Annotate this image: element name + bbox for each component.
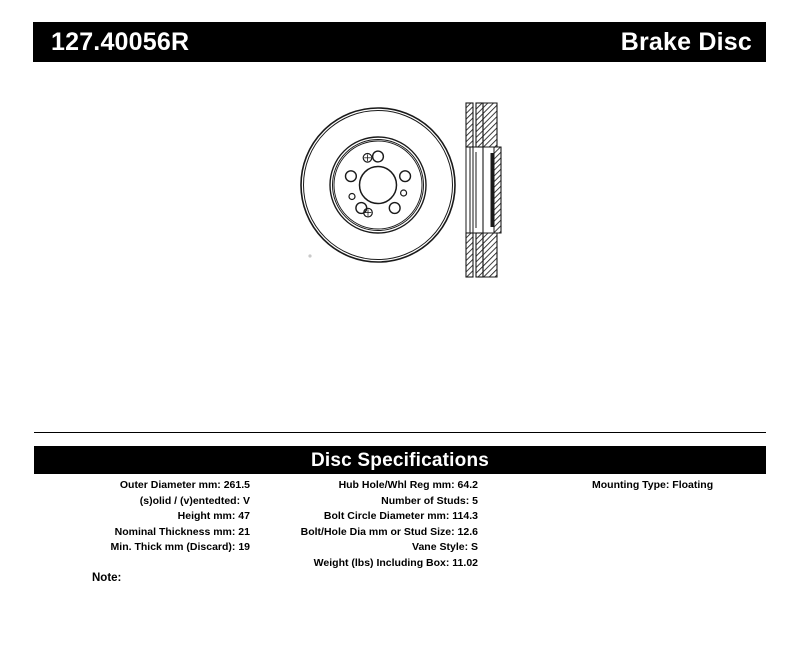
brake-rotor-cross-section-icon — [455, 90, 511, 290]
product-illustration — [0, 70, 800, 400]
spec-row: (s)olid / (v)entedted: V — [34, 494, 250, 510]
product-header-bar: 127.40056R Brake Disc — [33, 22, 766, 62]
spec-row: Nominal Thickness mm: 21 — [34, 525, 250, 541]
note-section: Note: — [34, 568, 766, 586]
spec-row: Min. Thick mm (Discard): 19 — [34, 540, 250, 556]
spec-row: Height mm: 47 — [34, 509, 250, 525]
spec-row: Outer Diameter mm: 261.5 — [34, 478, 250, 494]
spec-column-left: Outer Diameter mm: 261.5 (s)olid / (v)en… — [34, 478, 256, 556]
brake-rotor-front-view-icon — [286, 90, 476, 280]
spec-column-right: Mounting Type: Floating — [484, 478, 766, 494]
section-divider — [34, 432, 766, 433]
disc-specifications-bar: Disc Specifications — [34, 446, 766, 474]
spec-row: Vane Style: S — [256, 540, 478, 556]
spec-column-middle: Hub Hole/Whl Reg mm: 64.2 Number of Stud… — [256, 478, 484, 571]
specifications-table: Outer Diameter mm: 261.5 (s)olid / (v)en… — [34, 478, 766, 571]
spec-row: Bolt Circle Diameter mm: 114.3 — [256, 509, 478, 525]
spec-row: Hub Hole/Whl Reg mm: 64.2 — [256, 478, 478, 494]
note-label: Note: — [92, 572, 121, 584]
spec-row: Mounting Type: Floating — [592, 478, 766, 494]
product-type-label: Brake Disc — [621, 30, 752, 55]
spec-row: Bolt/Hole Dia mm or Stud Size: 12.6 — [256, 525, 478, 541]
part-number: 127.40056R — [51, 30, 189, 55]
disc-specifications-title: Disc Specifications — [311, 451, 489, 470]
spec-row: Number of Studs: 5 — [256, 494, 478, 510]
